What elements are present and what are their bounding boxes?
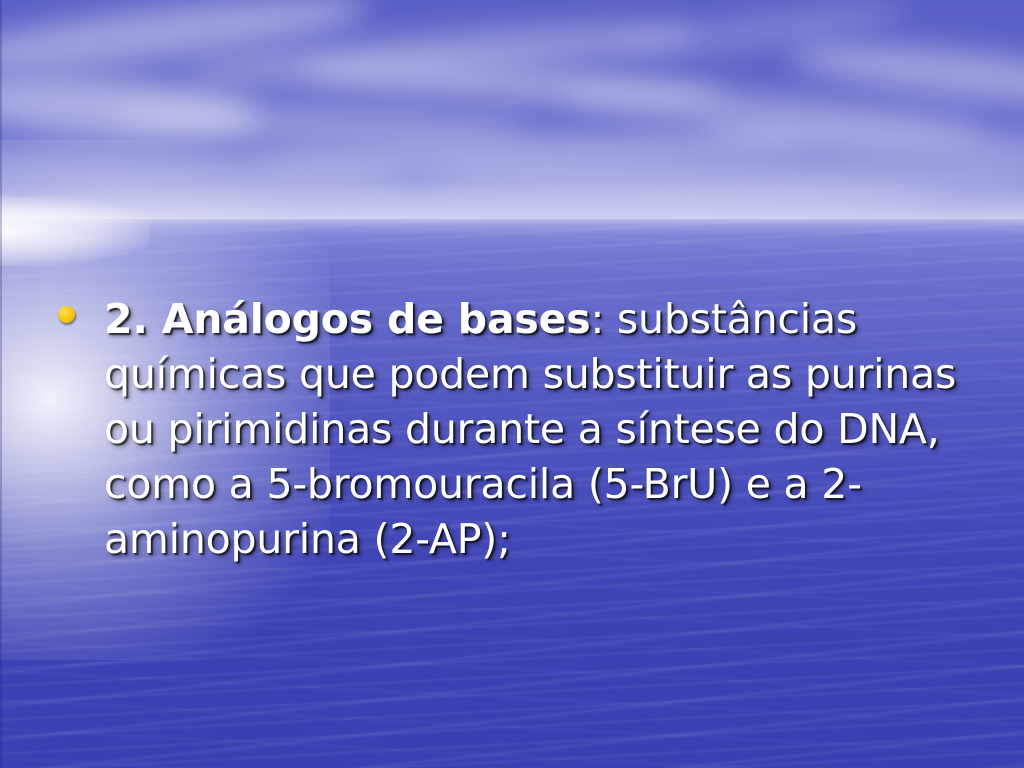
bullet-text-block: 2. Análogos de bases: substâncias químic…: [104, 292, 958, 567]
slide-content: 2. Análogos de bases: substâncias químic…: [0, 0, 1024, 768]
bullet-dot-icon: [58, 306, 75, 323]
bullet-list-item: 2. Análogos de bases: substâncias químic…: [58, 292, 958, 567]
bullet-lead-term: 2. Análogos de bases: [104, 295, 590, 343]
presentation-slide: 2. Análogos de bases: substâncias químic…: [0, 0, 1024, 768]
